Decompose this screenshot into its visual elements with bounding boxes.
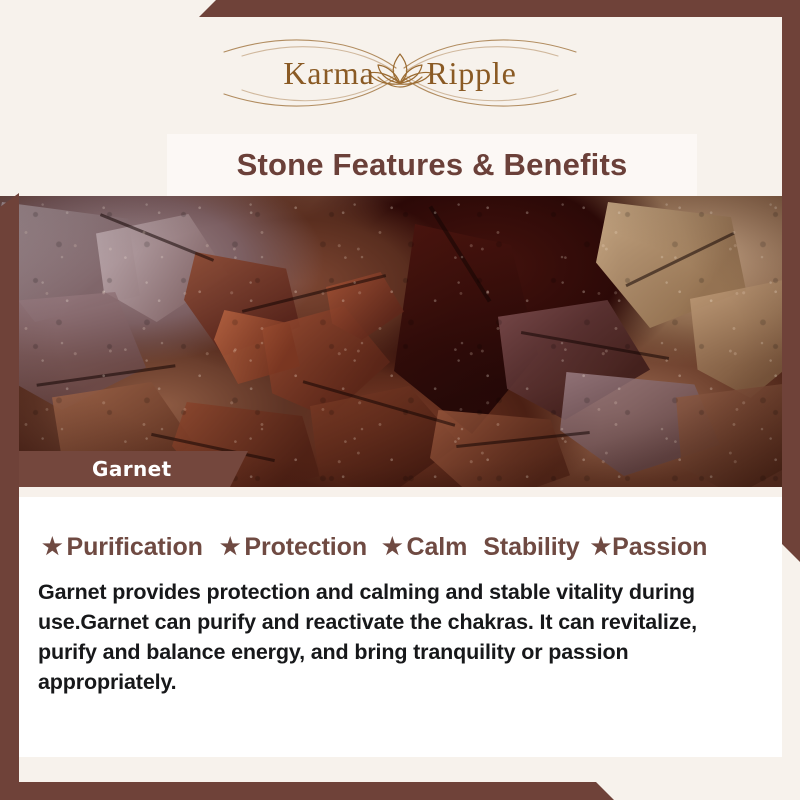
- photo-vignette-layer: [0, 196, 800, 487]
- photo-card-seam: [19, 487, 782, 497]
- stone-name-label: Garnet: [92, 451, 172, 487]
- star-icon: ★: [220, 535, 241, 558]
- benefit-label: Passion: [612, 533, 707, 562]
- star-icon: ★: [382, 535, 403, 558]
- benefit-label: Protection: [244, 533, 367, 562]
- brand-logo: Karma Ripple: [0, 31, 800, 115]
- brand-word-right: Ripple: [426, 57, 516, 89]
- benefits-row: ★ Purification ★ Protection ★ Calm Stabi…: [42, 530, 768, 564]
- benefit-item-protection: ★ Protection: [220, 533, 367, 562]
- star-icon: ★: [42, 535, 63, 558]
- stone-benefits-poster: Garnet ★ Purification ★ Protection ★ Cal…: [0, 0, 800, 800]
- frame-band-bottom: [0, 782, 614, 800]
- frame-band-top: [0, 0, 800, 17]
- description-paragraph: Garnet provides protection and calming a…: [38, 577, 754, 697]
- garnet-stone-photo: [0, 196, 800, 487]
- brand-word-left: Karma: [283, 57, 374, 89]
- page-title: Stone Features & Benefits: [167, 134, 697, 196]
- benefit-item-calm: ★ Calm: [382, 533, 467, 562]
- benefit-label: Calm: [407, 533, 468, 562]
- frame-band-left: [0, 193, 19, 800]
- benefit-item-passion: ★ Passion: [591, 533, 708, 562]
- brand-wordmark: Karma Ripple: [220, 57, 580, 89]
- benefit-item-purification: ★ Purification: [42, 533, 203, 562]
- frame-band-right: [782, 0, 800, 562]
- benefit-label: Stability: [483, 533, 579, 562]
- star-icon: ★: [591, 535, 612, 558]
- benefit-item-stability: Stability: [483, 533, 579, 562]
- benefit-label: Purification: [67, 533, 203, 562]
